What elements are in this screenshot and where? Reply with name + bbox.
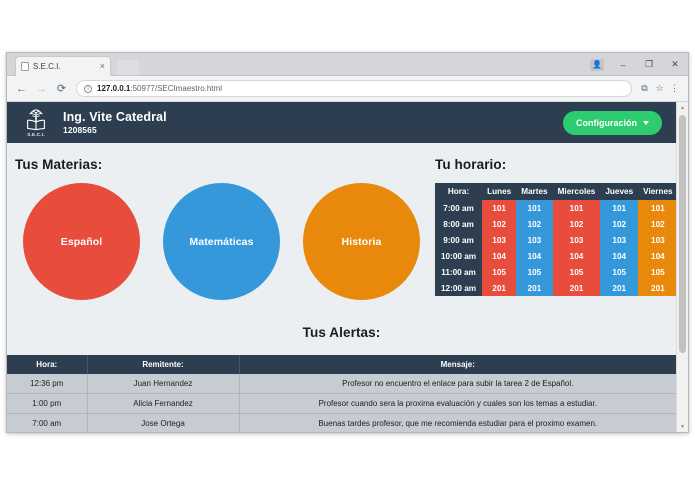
alerts-col-header-0: Hora: [7,355,87,374]
header-titles: Ing. Vite Catedral 1208565 [63,110,563,135]
alerts-header-row: Hora:Remitente:Mensaje: [7,355,676,374]
schedule-slot-cell[interactable]: 105 [638,264,677,280]
vertical-scrollbar[interactable]: ▲ ▼ [676,102,688,432]
schedule-slot-cell[interactable]: 102 [482,216,516,232]
subject-circle-2[interactable]: Matemáticas [163,183,280,300]
schedule-col-header-5: Viernes [638,183,677,200]
browser-window: S.E.C.I. × 👤 – ❐ ✕ ← → ⟳ i 127.0.0.1:509… [6,52,689,433]
schedule-col-header-4: Jueves [600,183,638,200]
table-row[interactable]: 1:00 pmAlicia FernandezProfesor cuando s… [7,394,676,414]
schedule-row: 10:00 am104104104104104 [435,248,678,264]
extension-icon[interactable]: ⧉ [637,80,652,97]
seci-logo-text: S.E.C.I. [27,132,44,137]
new-tab-button[interactable] [117,60,139,75]
schedule-row: 12:00 am201201201201201 [435,280,678,296]
subject-circle-3[interactable]: Historia [303,183,420,300]
scrollbar-thumb[interactable] [679,115,686,353]
schedule-slot-cell[interactable]: 105 [482,264,516,280]
close-window-button[interactable]: ✕ [662,53,688,76]
top-row: Tus Materias: EspañolMatemáticasHistoria… [7,143,676,300]
seci-logo-icon: S.E.C.I. [21,106,51,139]
schedule-col-header-1: Lunes [482,183,516,200]
schedule-header-row: Hora:LunesMartesMiercolesJuevesViernes [435,183,678,200]
site-header: S.E.C.I. Ing. Vite Catedral 1208565 Conf… [7,102,676,143]
materias-section: Tus Materias: EspañolMatemáticasHistoria [7,157,425,300]
url-path: :50977/SECImaestro.html [130,84,222,93]
schedule-row: 9:00 am103103103103103 [435,232,678,248]
subject-circle-label: Matemáticas [189,236,253,248]
page-content: S.E.C.I. Ing. Vite Catedral 1208565 Conf… [7,102,676,432]
schedule-col-header-3: Miercoles [553,183,601,200]
browser-toolbar: ← → ⟳ i 127.0.0.1:50977/SECImaestro.html… [7,76,688,102]
alerts-col-header-1: Remitente: [87,355,239,374]
maximize-button[interactable]: ❐ [636,53,662,76]
schedule-hour-cell: 7:00 am [435,200,482,216]
alert-hora: 12:36 pm [7,374,87,394]
schedule-table-head: Hora:LunesMartesMiercolesJuevesViernes [435,183,678,200]
main-content: Tus Materias: EspañolMatemáticasHistoria… [7,143,676,432]
schedule-slot-cell[interactable]: 101 [482,200,516,216]
teacher-id: 1208565 [63,125,563,135]
alert-remitente: Jose Ortega [87,414,239,433]
back-icon[interactable]: ← [13,80,30,97]
alertas-title: Tus Alertas: [303,325,381,340]
schedule-slot-cell[interactable]: 201 [516,280,552,296]
schedule-slot-cell[interactable]: 102 [600,216,638,232]
profile-button[interactable]: 👤 [584,53,610,76]
schedule-table: Hora:LunesMartesMiercolesJuevesViernes 7… [435,183,678,296]
browser-tab[interactable]: S.E.C.I. × [15,56,111,76]
subject-circle-list: EspañolMatemáticasHistoria [15,183,425,300]
alerts-table: Hora:Remitente:Mensaje: 12:36 pmJuan Her… [7,355,676,432]
table-row[interactable]: 7:00 amJose OrtegaBuenas tardes profesor… [7,414,676,433]
alert-mensaje: Buenas tardes profesor, que me recomiend… [239,414,676,433]
address-bar[interactable]: i 127.0.0.1:50977/SECImaestro.html [76,80,632,97]
configuracion-button[interactable]: Configuración [563,111,662,135]
schedule-slot-cell[interactable]: 105 [600,264,638,280]
schedule-slot-cell[interactable]: 201 [482,280,516,296]
schedule-col-header-0: Hora: [435,183,482,200]
schedule-slot-cell[interactable]: 102 [638,216,677,232]
materias-title: Tus Materias: [15,157,425,172]
schedule-slot-cell[interactable]: 102 [553,216,601,232]
schedule-slot-cell[interactable]: 105 [553,264,601,280]
schedule-table-body: 7:00 am1011011011011018:00 am10210210210… [435,200,678,296]
alert-hora: 7:00 am [7,414,87,433]
schedule-slot-cell[interactable]: 105 [516,264,552,280]
schedule-hour-cell: 12:00 am [435,280,482,296]
schedule-slot-cell[interactable]: 104 [553,248,601,264]
scroll-up-arrow-icon[interactable]: ▲ [677,102,688,113]
schedule-slot-cell[interactable]: 104 [516,248,552,264]
bookmark-star-icon[interactable]: ☆ [652,80,667,97]
schedule-slot-cell[interactable]: 103 [638,232,677,248]
schedule-row: 11:00 am105105105105105 [435,264,678,280]
window-controls: 👤 – ❐ ✕ [584,53,688,76]
profile-icon: 👤 [590,59,604,71]
page-icon [21,62,29,71]
alert-hora: 1:00 pm [7,394,87,414]
alerts-col-header-2: Mensaje: [239,355,676,374]
configuracion-label: Configuración [576,118,637,128]
schedule-col-header-2: Martes [516,183,552,200]
teacher-name: Ing. Vite Catedral [63,110,563,124]
scroll-down-arrow-icon[interactable]: ▼ [677,421,688,432]
schedule-slot-cell[interactable]: 101 [638,200,677,216]
alert-remitente: Juan Hernandez [87,374,239,394]
schedule-slot-cell[interactable]: 101 [553,200,601,216]
browser-tab-strip: S.E.C.I. × 👤 – ❐ ✕ [7,53,688,76]
subject-circle-1[interactable]: Español [23,183,140,300]
schedule-slot-cell[interactable]: 103 [553,232,601,248]
schedule-slot-cell[interactable]: 101 [516,200,552,216]
schedule-hour-cell: 10:00 am [435,248,482,264]
page-viewport: S.E.C.I. Ing. Vite Catedral 1208565 Conf… [7,102,688,432]
schedule-slot-cell[interactable]: 201 [553,280,601,296]
schedule-slot-cell[interactable]: 103 [600,232,638,248]
alertas-title-wrap: Tus Alertas: [7,300,676,355]
schedule-slot-cell[interactable]: 104 [482,248,516,264]
schedule-row: 7:00 am101101101101101 [435,200,678,216]
subject-circle-label: Español [61,236,103,248]
forward-icon[interactable]: → [33,80,50,97]
schedule-hour-cell: 8:00 am [435,216,482,232]
close-tab-icon[interactable]: × [100,62,105,71]
reload-icon[interactable]: ⟳ [53,80,70,97]
browser-tab-title: S.E.C.I. [33,62,100,71]
browser-menu-icon[interactable]: ⋮ [667,80,682,97]
url-host: 127.0.0.1 [97,84,130,93]
minimize-button[interactable]: – [610,53,636,76]
schedule-hour-cell: 11:00 am [435,264,482,280]
site-info-icon[interactable]: i [84,85,92,93]
horario-section: Tu horario: Hora:LunesMartesMiercolesJue… [425,157,678,300]
schedule-slot-cell[interactable]: 103 [482,232,516,248]
alerts-table-head: Hora:Remitente:Mensaje: [7,355,676,374]
table-row[interactable]: 12:36 pmJuan HernandezProfesor no encuen… [7,374,676,394]
schedule-slot-cell[interactable]: 102 [516,216,552,232]
subject-circle-label: Historia [342,236,382,248]
schedule-slot-cell[interactable]: 201 [600,280,638,296]
schedule-slot-cell[interactable]: 104 [600,248,638,264]
chevron-down-icon [643,121,649,125]
alert-mensaje: Profesor no encuentro el enlace para sub… [239,374,676,394]
schedule-slot-cell[interactable]: 201 [638,280,677,296]
schedule-slot-cell[interactable]: 101 [600,200,638,216]
alert-mensaje: Profesor cuando sera la proxima evaluaci… [239,394,676,414]
alerts-table-body: 12:36 pmJuan HernandezProfesor no encuen… [7,374,676,432]
schedule-slot-cell[interactable]: 104 [638,248,677,264]
schedule-hour-cell: 9:00 am [435,232,482,248]
alert-remitente: Alicia Fernandez [87,394,239,414]
schedule-row: 8:00 am102102102102102 [435,216,678,232]
horario-title: Tu horario: [435,157,678,172]
schedule-slot-cell[interactable]: 103 [516,232,552,248]
